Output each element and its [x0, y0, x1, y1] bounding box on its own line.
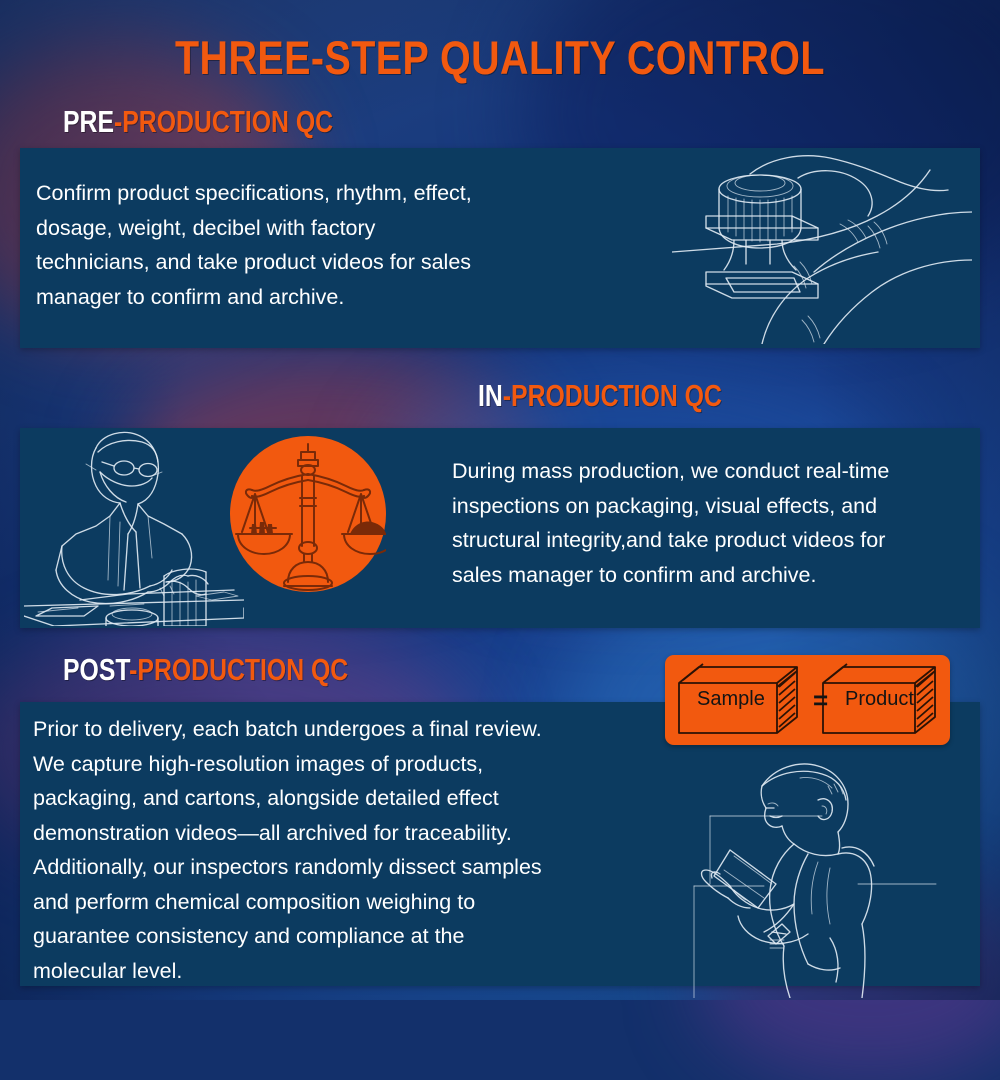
- step-3-heading-rest: -PRODUCTION QC: [129, 652, 348, 687]
- step-2-body-text: During mass production, we conduct real-…: [452, 454, 982, 592]
- step-1-body-text: Confirm product specifications, rhythm, …: [36, 176, 636, 314]
- balance-scale-circle: [230, 436, 386, 592]
- balance-scale-icon: [230, 436, 386, 592]
- step-2-heading: IN-PRODUCTION QC: [478, 378, 722, 414]
- step-1-heading: PRE-PRODUCTION QC: [63, 104, 333, 140]
- step-1-heading-highlight: PRE: [63, 104, 114, 139]
- page-title: THREE-STEP QUALITY CONTROL: [80, 32, 920, 84]
- step-3-heading: POST-PRODUCTION QC: [63, 652, 348, 688]
- sample-label: Sample: [697, 688, 765, 711]
- step-3-body-text: Prior to delivery, each batch undergoes …: [33, 712, 663, 988]
- product-label: Product: [845, 688, 914, 711]
- step-2-heading-highlight: IN: [478, 378, 503, 413]
- step-2-heading-rest: -PRODUCTION QC: [503, 378, 722, 413]
- equals-operator: =: [813, 685, 828, 716]
- balance-scale-badge: [230, 436, 386, 592]
- step-3-heading-highlight: POST: [63, 652, 129, 687]
- step-1-heading-rest: -PRODUCTION QC: [114, 104, 333, 139]
- sample-equals-product-card: Sample = Product: [665, 655, 950, 745]
